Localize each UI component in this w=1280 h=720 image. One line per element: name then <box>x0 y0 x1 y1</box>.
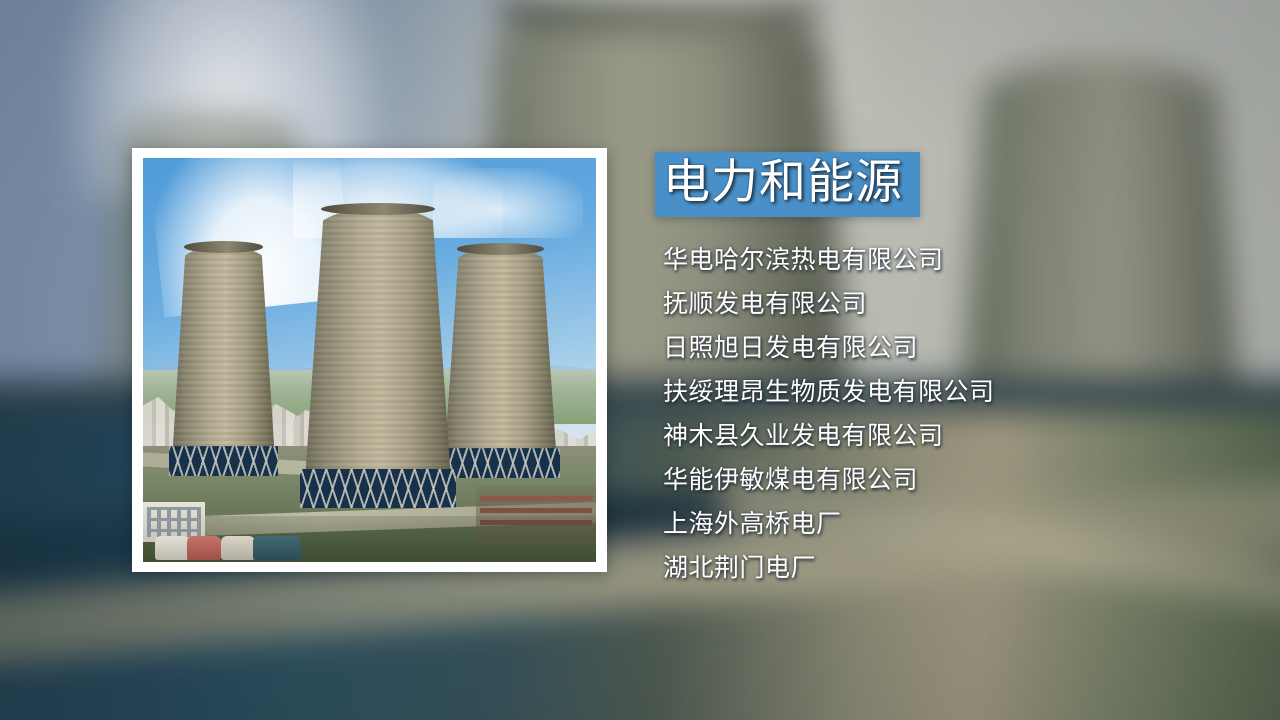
photo-storage-tank <box>221 536 255 560</box>
list-item: 华电哈尔滨热电有限公司 <box>663 238 1083 282</box>
photo-tower-rim <box>184 241 264 253</box>
power-plant-photo <box>143 158 596 562</box>
photo-storage-tank <box>187 536 221 560</box>
list-item: 华能伊敏煤电有限公司 <box>663 458 1083 502</box>
list-item: 日照旭日发电有限公司 <box>663 326 1083 370</box>
company-list: 华电哈尔滨热电有限公司 抚顺发电有限公司 日照旭日发电有限公司 扶绥理昂生物质发… <box>663 238 1083 590</box>
list-item: 神木县久业发电有限公司 <box>663 414 1083 458</box>
photo-cooling-tower-right <box>443 248 558 478</box>
list-item: 湖北荆门电厂 <box>663 546 1083 590</box>
photo-tower-rim <box>321 203 435 215</box>
list-item: 上海外高桥电厂 <box>663 502 1083 546</box>
photo-pipework <box>476 486 596 544</box>
photo-storage-tank <box>155 536 189 560</box>
photo-tower-shell <box>443 248 558 478</box>
photo-tower-legs <box>441 448 561 478</box>
photo-storage-tank <box>253 536 301 560</box>
page-title: 电力和能源 <box>663 150 903 216</box>
photo-cooling-tower-center <box>303 208 453 508</box>
photo-tower-shell <box>171 246 276 476</box>
list-item: 扶绥理昂生物质发电有限公司 <box>663 370 1083 414</box>
photo-steam-plume-right <box>433 168 583 238</box>
photo-frame <box>132 148 607 572</box>
photo-tower-rim <box>457 243 544 255</box>
photo-tower-legs <box>169 446 278 476</box>
photo-cooling-tower-left <box>171 246 276 476</box>
list-item: 抚顺发电有限公司 <box>663 282 1083 326</box>
photo-tower-shell <box>303 208 453 508</box>
slide-root: 电力和能源 华电哈尔滨热电有限公司 抚顺发电有限公司 日照旭日发电有限公司 扶绥… <box>0 0 1280 720</box>
photo-tower-legs <box>300 469 456 508</box>
